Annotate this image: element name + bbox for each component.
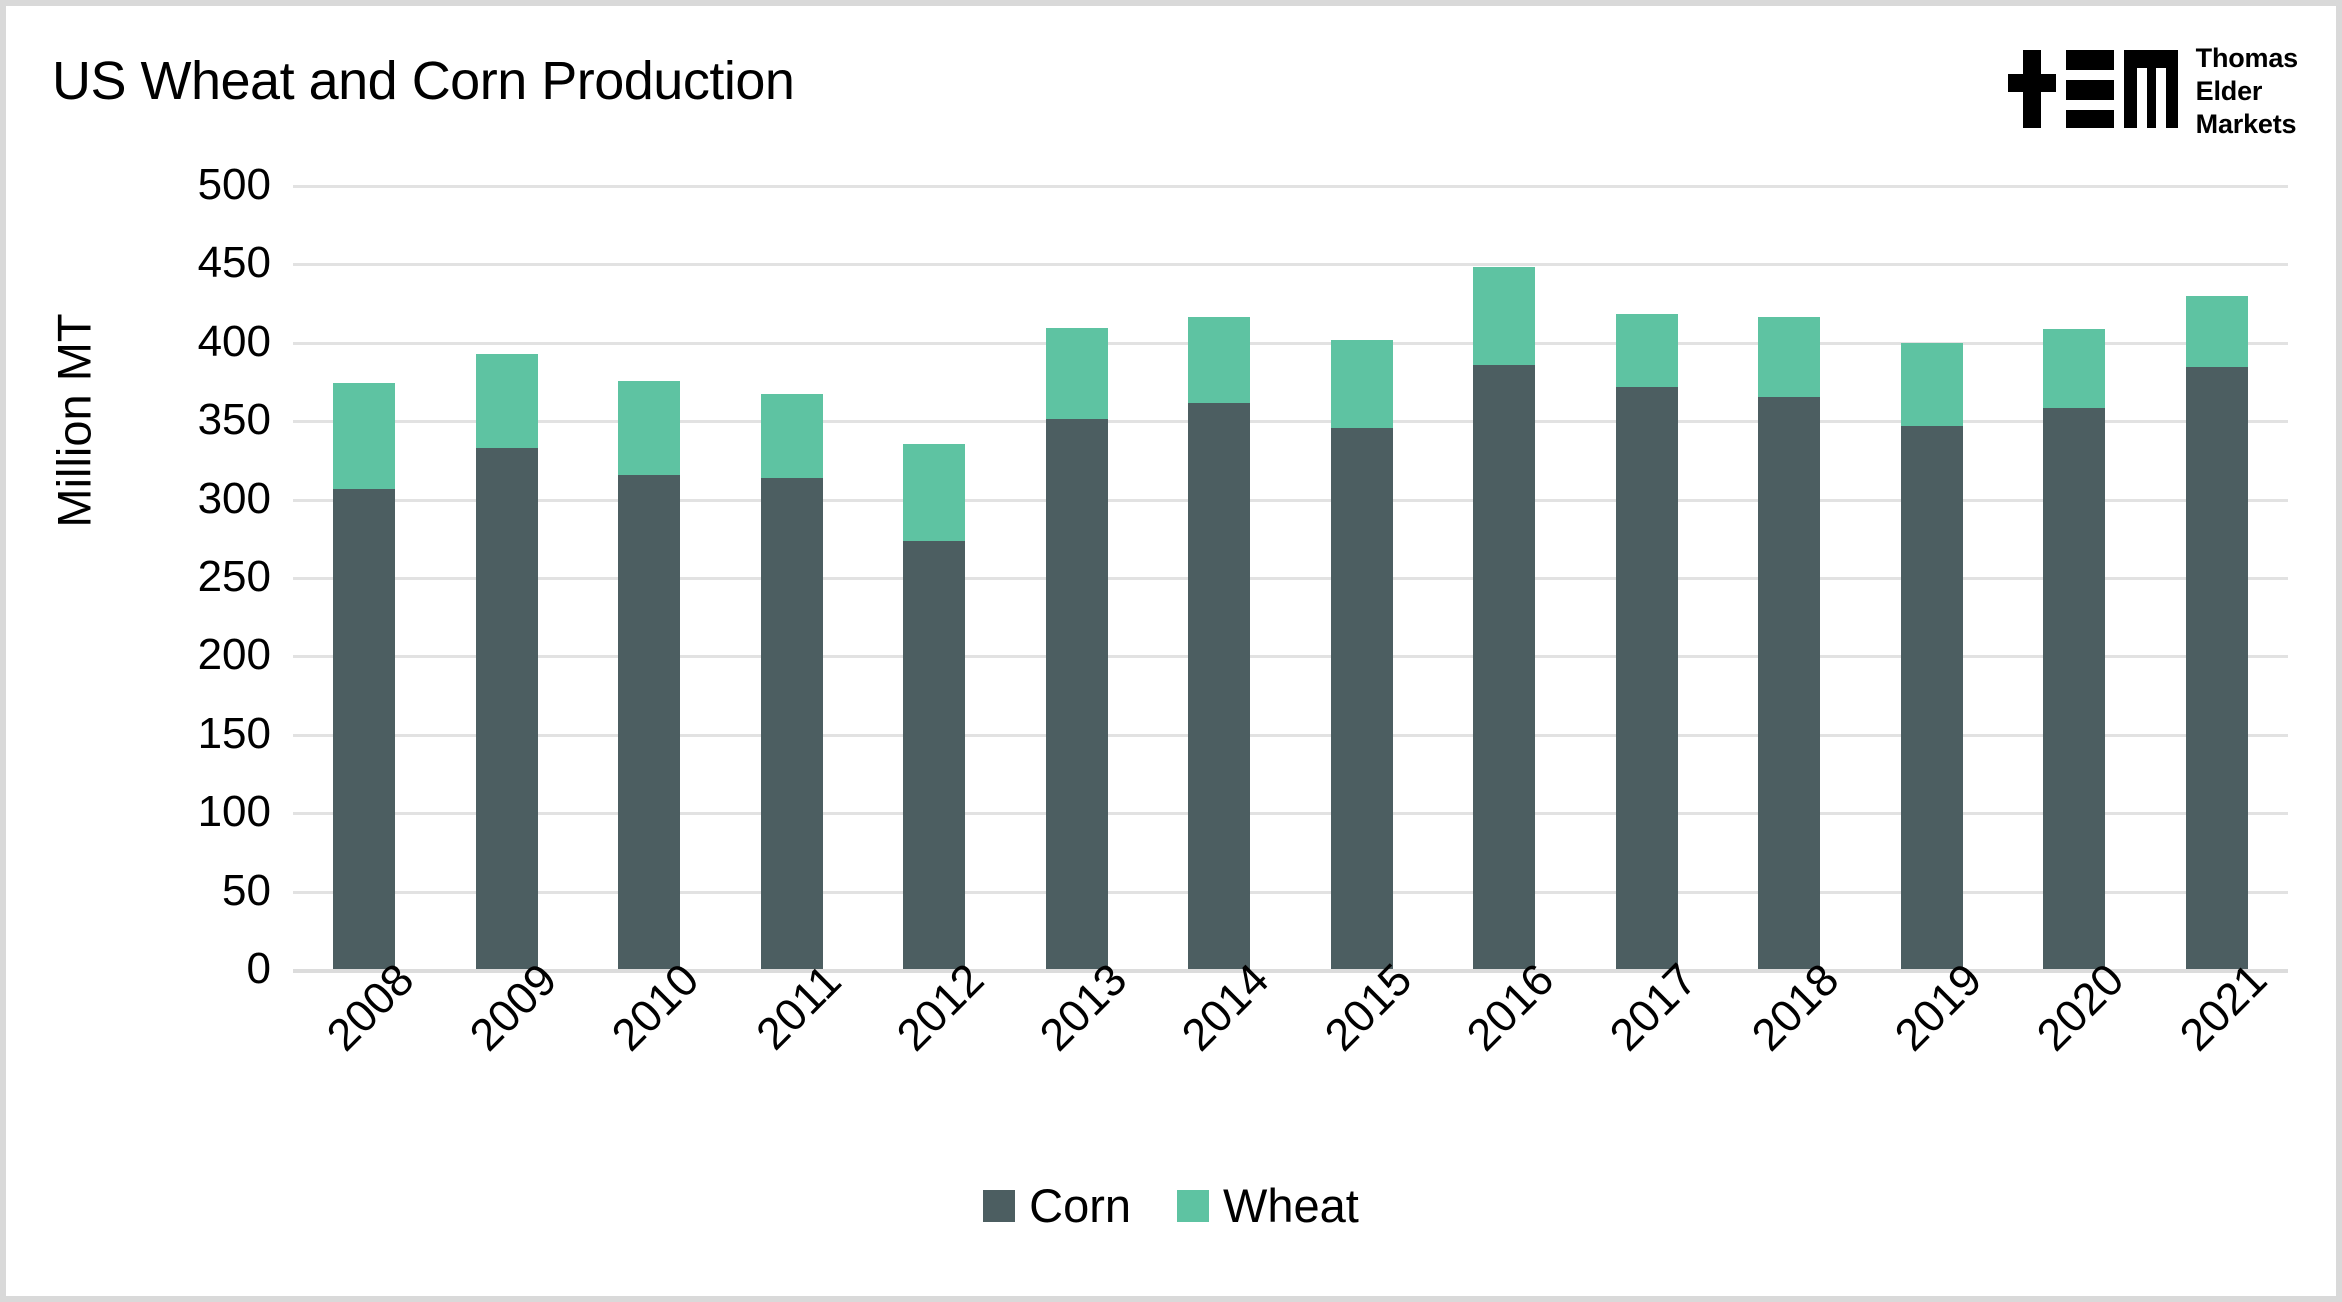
bar-segment-corn[interactable] (2186, 367, 2248, 969)
bar-segment-wheat[interactable] (2043, 329, 2105, 407)
bar-stack[interactable] (1188, 317, 1250, 969)
bar-segment-wheat[interactable] (476, 354, 538, 448)
x-axis-tick: 2017 (1576, 981, 1719, 1121)
y-axis-tick-label: 400 (141, 317, 271, 367)
bar-stack[interactable] (761, 394, 823, 969)
legend-swatch-icon (983, 1190, 1015, 1222)
y-axis-tick-label: 50 (141, 866, 271, 916)
brand-line-3: Markets (2196, 108, 2298, 141)
bar-segment-corn[interactable] (1758, 397, 1820, 969)
legend-item[interactable]: Wheat (1177, 1182, 1359, 1229)
bar-segment-wheat[interactable] (1758, 317, 1820, 397)
bar-stack[interactable] (1758, 317, 1820, 969)
x-axis-tick: 2015 (1291, 981, 1434, 1121)
bar-group[interactable] (293, 185, 436, 969)
page-title: US Wheat and Corn Production (52, 50, 794, 112)
bar-segment-corn[interactable] (476, 448, 538, 969)
x-axis-tick: 2009 (436, 981, 579, 1121)
bar-segment-wheat[interactable] (761, 394, 823, 479)
y-axis-tick-label: 150 (141, 709, 271, 759)
brand-line-1: Thomas (2196, 42, 2298, 75)
bar-segment-wheat[interactable] (1473, 267, 1535, 366)
bar-segment-wheat[interactable] (1046, 328, 1108, 419)
x-axis-tick: 2016 (1433, 981, 1576, 1121)
bar-group[interactable] (721, 185, 864, 969)
bar-segment-wheat[interactable] (1331, 340, 1393, 428)
x-axis-tick: 2010 (578, 981, 721, 1121)
x-axis-tick: 2012 (863, 981, 1006, 1121)
bar-segment-wheat[interactable] (903, 444, 965, 541)
bar-stack[interactable] (2186, 296, 2248, 969)
bar-segment-corn[interactable] (333, 489, 395, 969)
x-axis-ticks: 2008200920102011201220132014201520162017… (293, 981, 2288, 1121)
chart-legend: CornWheat (6, 1182, 2336, 1229)
x-axis-tick: 2020 (2003, 981, 2146, 1121)
bar-segment-corn[interactable] (903, 541, 965, 969)
bar-segment-corn[interactable] (1901, 426, 1963, 969)
x-axis-tick: 2021 (2146, 981, 2289, 1121)
bar-group[interactable] (1006, 185, 1149, 969)
x-axis-tick: 2013 (1006, 981, 1149, 1121)
x-axis-tick: 2014 (1148, 981, 1291, 1121)
bar-stack[interactable] (903, 444, 965, 969)
bar-segment-wheat[interactable] (618, 381, 680, 475)
bar-group[interactable] (1291, 185, 1434, 969)
bar-stack[interactable] (1616, 314, 1678, 969)
chart-canvas: US Wheat and Corn Production Thomas Elde… (6, 6, 2336, 1296)
bar-segment-corn[interactable] (1473, 365, 1535, 969)
y-axis-ticks: 500450400350300250200150100500 (131, 185, 271, 969)
x-axis-tick: 2008 (293, 981, 436, 1121)
bar-segment-corn[interactable] (618, 475, 680, 969)
x-axis-tick: 2019 (1861, 981, 2004, 1121)
bar-stack[interactable] (618, 381, 680, 969)
bar-group[interactable] (1861, 185, 2004, 969)
y-axis-tick-label: 450 (141, 238, 271, 288)
gridline (293, 969, 2288, 973)
bar-series (293, 185, 2288, 969)
y-axis-tick-label: 200 (141, 630, 271, 680)
bar-segment-corn[interactable] (1188, 403, 1250, 969)
x-axis-tick: 2011 (721, 981, 864, 1121)
bar-group[interactable] (436, 185, 579, 969)
bar-segment-corn[interactable] (761, 478, 823, 969)
bar-group[interactable] (578, 185, 721, 969)
legend-swatch-icon (1177, 1190, 1209, 1222)
bar-stack[interactable] (1046, 328, 1108, 969)
bar-group[interactable] (1148, 185, 1291, 969)
plot-area (293, 185, 2288, 969)
bar-stack[interactable] (1331, 340, 1393, 969)
y-axis-tick-label: 350 (141, 395, 271, 445)
legend-label: Corn (1029, 1182, 1131, 1229)
bar-segment-corn[interactable] (1331, 428, 1393, 969)
bar-segment-wheat[interactable] (1616, 314, 1678, 388)
y-axis-tick-label: 300 (141, 474, 271, 524)
bar-group[interactable] (863, 185, 1006, 969)
bar-group[interactable] (1576, 185, 1719, 969)
y-axis-tick-label: 0 (141, 944, 271, 994)
bar-group[interactable] (2003, 185, 2146, 969)
bar-stack[interactable] (2043, 329, 2105, 969)
brand-logo: Thomas Elder Markets (2008, 40, 2298, 141)
brand-line-2: Elder (2196, 75, 2298, 108)
bar-stack[interactable] (1473, 267, 1535, 969)
y-axis-tick-label: 250 (141, 552, 271, 602)
bar-group[interactable] (2146, 185, 2289, 969)
bar-stack[interactable] (333, 383, 395, 969)
bar-segment-wheat[interactable] (1901, 343, 1963, 426)
bar-segment-corn[interactable] (2043, 408, 2105, 969)
bar-group[interactable] (1718, 185, 1861, 969)
x-axis-tick: 2018 (1718, 981, 1861, 1121)
brand-text: Thomas Elder Markets (2196, 40, 2298, 141)
y-axis-title: Million MT (46, 185, 102, 655)
y-axis-tick-label: 500 (141, 160, 271, 210)
bar-group[interactable] (1433, 185, 1576, 969)
y-axis-tick-label: 100 (141, 787, 271, 837)
y-axis-title-label: Million MT (47, 313, 102, 527)
legend-item[interactable]: Corn (983, 1182, 1131, 1229)
bar-segment-corn[interactable] (1046, 419, 1108, 969)
bar-segment-wheat[interactable] (333, 383, 395, 490)
bar-segment-wheat[interactable] (2186, 296, 2248, 367)
legend-label: Wheat (1223, 1182, 1359, 1229)
tem-logo-mark-icon (2008, 40, 2178, 128)
bar-segment-wheat[interactable] (1188, 317, 1250, 403)
bar-stack[interactable] (476, 354, 538, 969)
bar-segment-corn[interactable] (1616, 387, 1678, 969)
bar-stack[interactable] (1901, 343, 1963, 969)
